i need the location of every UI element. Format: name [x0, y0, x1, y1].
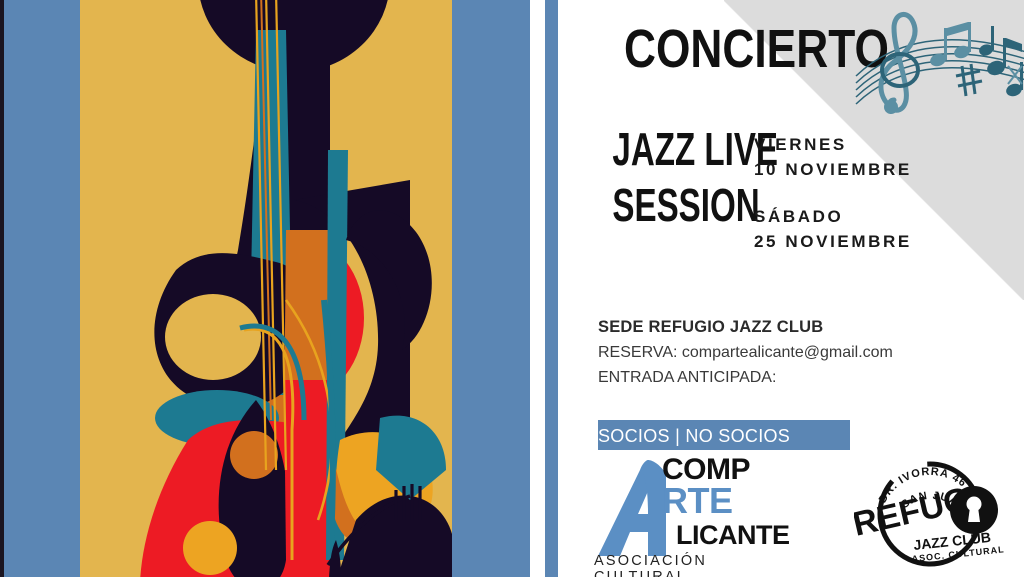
price-bar-label: SOCIOS | NO SOCIOS: [598, 425, 850, 447]
event-name: JAZZ LIVE SESSION: [562, 126, 742, 228]
content-panel: CONCIERTO: [562, 0, 1024, 577]
comparte-alicante-logo: COMP RTE LICANTE ASOCIACIÓN CULTURAL: [590, 452, 780, 574]
panel-left-edge: [0, 0, 4, 577]
venue-advance-ticket: ENTRADA ANTICIPADA:: [598, 365, 1018, 390]
logo-text-licante: LICANTE: [676, 522, 790, 549]
venue-reservation: RESERVA: compartealicante@gmail.com: [598, 340, 1018, 365]
event-name-line-1: JAZZ LIVE: [612, 126, 742, 172]
headline-block: JAZZ LIVE SESSION VIERNES 10 NOVIEMBRE S…: [562, 126, 1024, 266]
artwork-svg: [80, 0, 452, 577]
date-entry-1: VIERNES 10 NOVIEMBRE: [754, 132, 1024, 182]
music-notes-svg: [850, 4, 1024, 119]
date-day-1: VIERNES: [754, 132, 1024, 157]
logo-text-rte: RTE: [662, 483, 733, 519]
refugio-jazz-club-logo: DR. IVORRA 46 SAN JUAN REFUGI JAZZ CLUB …: [854, 452, 1019, 574]
music-notes-icon: [850, 4, 1024, 119]
venue-info: SEDE REFUGIO JAZZ CLUB RESERVA: comparte…: [598, 315, 1018, 390]
logo-tagline-asociacion-cultural: ASOCIACIÓN CULTURAL: [594, 553, 780, 577]
date-value-2: 25 NOVIEMBRE: [754, 229, 1024, 254]
event-name-line-2: SESSION: [612, 182, 742, 228]
panel-divider-gap: [530, 0, 545, 577]
venue-name: SEDE REFUGIO JAZZ CLUB: [598, 315, 1018, 340]
abstract-double-bass-illustration: [80, 0, 452, 577]
date-value-1: 10 NOVIEMBRE: [754, 157, 1024, 182]
date-entry-2: SÁBADO 25 NOVIEMBRE: [754, 204, 1024, 254]
dates-list: VIERNES 10 NOVIEMBRE SÁBADO 25 NOVIEMBRE: [754, 132, 1024, 276]
artwork-panel: [0, 0, 530, 577]
panel-divider-stripe: [545, 0, 558, 577]
concert-poster: CONCIERTO: [0, 0, 1024, 577]
date-day-2: SÁBADO: [754, 204, 1024, 229]
header: CONCIERTO: [562, 0, 1024, 125]
refugio-stamp-icon: DR. IVORRA 46 SAN JUAN REFUGI JAZZ CLUB …: [854, 452, 1019, 574]
